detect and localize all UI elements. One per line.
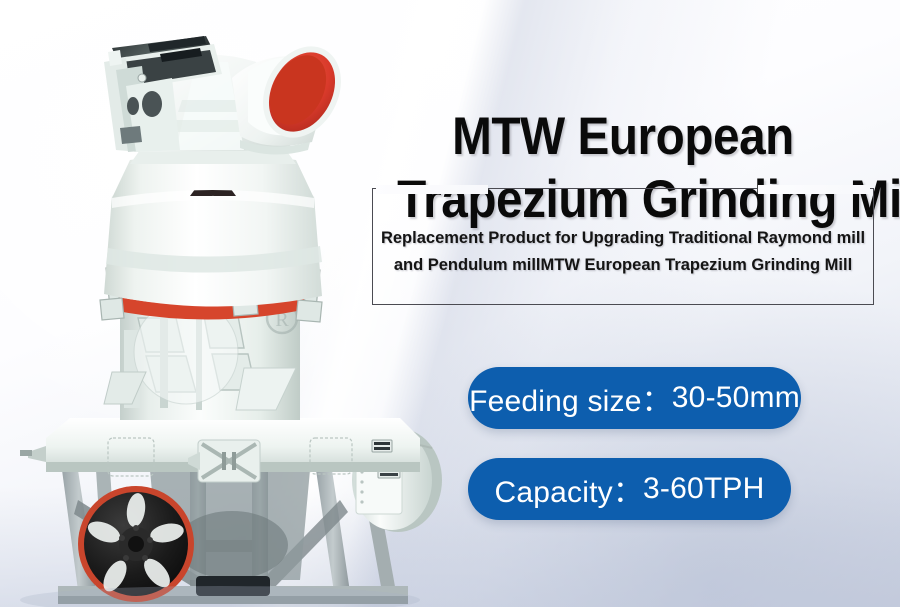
spec-value-capacity: 3-60TPH <box>643 472 764 506</box>
subtitle-frame-notch-left <box>376 185 488 194</box>
subtitle-text: Replacement Product for Upgrading Tradit… <box>378 225 868 278</box>
machine-center-fitting <box>188 440 260 482</box>
machine-intake-duct <box>232 33 356 155</box>
spec-pill-capacity[interactable]: Capacity： 3-60TPH <box>468 458 791 520</box>
spec-pill-feeding-size[interactable]: Feeding size： 30-50mm <box>468 367 801 429</box>
spec-label-feeding-size: Feeding size： <box>469 376 672 420</box>
machine-main-drum <box>104 188 322 307</box>
subtitle-frame-notch-right <box>758 185 870 194</box>
spec-value-feeding-size: 30-50mm <box>672 381 800 415</box>
spec-label-capacity: Capacity： <box>495 467 644 511</box>
machine-flywheel <box>78 486 194 602</box>
page-title-line1: MTW European <box>397 110 849 163</box>
subtitle-line-2: and Pendulum millMTW European Trapezium … <box>378 252 868 279</box>
subtitle-line-1: Replacement Product for Upgrading Tradit… <box>378 225 868 252</box>
product-banner: R <box>0 0 900 607</box>
